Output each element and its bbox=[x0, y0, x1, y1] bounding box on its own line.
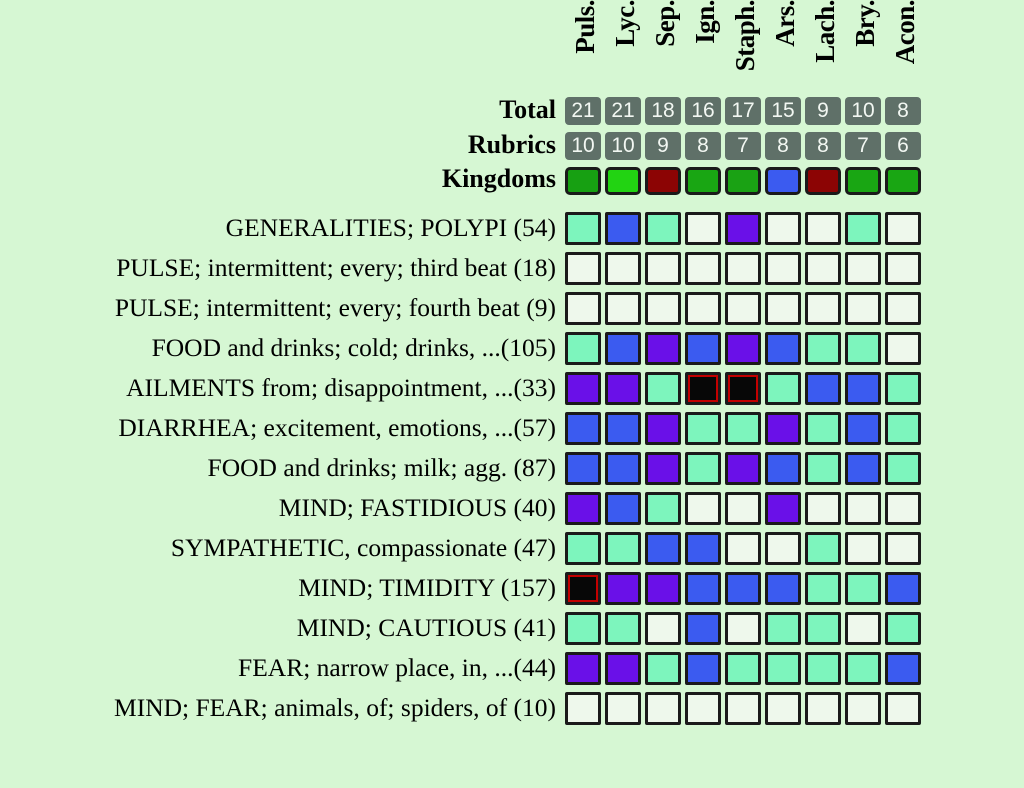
grade-cell[interactable] bbox=[725, 452, 761, 485]
remedy-column-header[interactable]: Lyc. bbox=[605, 0, 645, 96]
grade-cell[interactable] bbox=[845, 572, 881, 605]
kingdom-swatch bbox=[885, 167, 921, 195]
grade-cell[interactable] bbox=[805, 652, 841, 685]
total-score-cell: 15 bbox=[765, 97, 801, 125]
remedy-abbr-label: Lach. bbox=[805, 0, 845, 96]
grade-cell[interactable] bbox=[885, 452, 921, 485]
grade-cell[interactable] bbox=[845, 692, 881, 725]
grade-cell[interactable] bbox=[845, 252, 881, 285]
grade-cell[interactable] bbox=[565, 372, 601, 405]
grade-cell[interactable] bbox=[845, 652, 881, 685]
grade-cell[interactable] bbox=[605, 452, 641, 485]
grade-cell[interactable] bbox=[885, 332, 921, 365]
grade-cell[interactable] bbox=[645, 292, 681, 325]
remedy-column-header[interactable]: Ars. bbox=[765, 0, 805, 96]
grade-cell[interactable] bbox=[805, 572, 841, 605]
grade-cell[interactable] bbox=[645, 612, 681, 645]
grade-cell[interactable] bbox=[725, 292, 761, 325]
grade-cell[interactable] bbox=[805, 452, 841, 485]
grade-cell[interactable] bbox=[765, 612, 801, 645]
grade-cell[interactable] bbox=[725, 572, 761, 605]
grade-cell[interactable] bbox=[645, 212, 681, 245]
grade-cell[interactable] bbox=[765, 572, 801, 605]
grade-cell[interactable] bbox=[565, 532, 601, 565]
remedy-abbr-label: Puls. bbox=[565, 0, 605, 96]
grade-cell[interactable] bbox=[725, 412, 761, 445]
remedy-abbr-label: Sep. bbox=[645, 0, 685, 96]
grade-cell[interactable] bbox=[845, 492, 881, 525]
grade-cell[interactable] bbox=[765, 412, 801, 445]
grade-cell[interactable] bbox=[605, 612, 641, 645]
rubric-label[interactable]: GENERALITIES; POLYPI (54) bbox=[2, 213, 562, 243]
grade-cell[interactable] bbox=[725, 652, 761, 685]
grade-cell[interactable] bbox=[565, 572, 601, 605]
rubric-label[interactable]: FOOD and drinks; cold; drinks, ...(105) bbox=[2, 333, 562, 363]
grade-cell[interactable] bbox=[685, 692, 721, 725]
grade-cell[interactable] bbox=[645, 452, 681, 485]
grade-cell[interactable] bbox=[885, 412, 921, 445]
remedy-column-header[interactable]: Bry. bbox=[845, 0, 885, 96]
grade-cell[interactable] bbox=[845, 612, 881, 645]
remedy-abbr-label: Ars. bbox=[765, 0, 805, 96]
rubric-count-cell: 8 bbox=[765, 132, 801, 160]
rubric-label[interactable]: PULSE; intermittent; every; third beat (… bbox=[2, 253, 562, 283]
grade-cell[interactable] bbox=[725, 532, 761, 565]
grade-cell[interactable] bbox=[885, 652, 921, 685]
grade-cell[interactable] bbox=[685, 652, 721, 685]
grade-cell[interactable] bbox=[765, 492, 801, 525]
grade-cell[interactable] bbox=[725, 212, 761, 245]
grade-cell[interactable] bbox=[725, 372, 761, 405]
kingdom-swatch bbox=[565, 167, 601, 195]
grade-cell[interactable] bbox=[885, 692, 921, 725]
grade-cell[interactable] bbox=[725, 692, 761, 725]
remedy-abbr-label: Staph. bbox=[725, 0, 765, 96]
rubric-label[interactable]: DIARRHEA; excitement, emotions, ...(57) bbox=[2, 413, 562, 443]
rubric-count-cell: 8 bbox=[685, 132, 721, 160]
rubric-count-cell: 9 bbox=[645, 132, 681, 160]
grade-cell[interactable] bbox=[685, 372, 721, 405]
grade-cell[interactable] bbox=[565, 612, 601, 645]
rubric-count-cell: 8 bbox=[805, 132, 841, 160]
grade-cell[interactable] bbox=[765, 292, 801, 325]
grade-cell[interactable] bbox=[805, 692, 841, 725]
grade-cell[interactable] bbox=[645, 412, 681, 445]
rubric-label[interactable]: MIND; TIMIDITY (157) bbox=[2, 573, 562, 603]
grade-cell[interactable] bbox=[805, 212, 841, 245]
total-score-cell: 21 bbox=[565, 97, 601, 125]
grade-cell[interactable] bbox=[885, 572, 921, 605]
grade-cell[interactable] bbox=[565, 452, 601, 485]
grade-cell[interactable] bbox=[565, 292, 601, 325]
grade-cell[interactable] bbox=[685, 332, 721, 365]
kingdom-swatch bbox=[725, 167, 761, 195]
grade-cell[interactable] bbox=[725, 492, 761, 525]
grade-cell[interactable] bbox=[685, 412, 721, 445]
grade-cell[interactable] bbox=[885, 252, 921, 285]
grade-cell[interactable] bbox=[845, 532, 881, 565]
grade-cell[interactable] bbox=[565, 212, 601, 245]
grade-cell[interactable] bbox=[845, 412, 881, 445]
grade-cell[interactable] bbox=[605, 412, 641, 445]
grade-cell[interactable] bbox=[645, 572, 681, 605]
remedy-abbr-label: Ign. bbox=[685, 0, 725, 96]
kingdom-swatch bbox=[765, 167, 801, 195]
grade-cell[interactable] bbox=[885, 372, 921, 405]
grade-cell[interactable] bbox=[765, 252, 801, 285]
grade-cell[interactable] bbox=[685, 492, 721, 525]
remedy-column-header[interactable]: Ign. bbox=[685, 0, 725, 96]
rubric-label[interactable]: MIND; FASTIDIOUS (40) bbox=[2, 493, 562, 523]
grade-cell[interactable] bbox=[565, 332, 601, 365]
kingdom-swatch bbox=[605, 167, 641, 195]
total-score-cell: 17 bbox=[725, 97, 761, 125]
grade-cell[interactable] bbox=[805, 532, 841, 565]
grade-cell[interactable] bbox=[645, 692, 681, 725]
rubric-label-column: TotalRubricsKingdomsGENERALITIES; POLYPI… bbox=[0, 0, 562, 788]
kingdom-swatch bbox=[845, 167, 881, 195]
grade-cell[interactable] bbox=[765, 692, 801, 725]
grade-cell[interactable] bbox=[845, 292, 881, 325]
grade-cell[interactable] bbox=[645, 252, 681, 285]
grade-cell[interactable] bbox=[765, 332, 801, 365]
grade-cell[interactable] bbox=[805, 412, 841, 445]
grade-cell[interactable] bbox=[605, 292, 641, 325]
grade-cell[interactable] bbox=[645, 532, 681, 565]
grade-cell[interactable] bbox=[805, 292, 841, 325]
grade-cell[interactable] bbox=[885, 292, 921, 325]
remedy-header-row: Puls.Lyc.Sep.Ign.Staph.Ars.Lach.Bry.Acon… bbox=[565, 0, 925, 96]
rubric-label[interactable]: MIND; FEAR; animals, of; spiders, of (10… bbox=[2, 693, 562, 723]
remedy-abbr-label: Acon. bbox=[885, 0, 925, 96]
grade-cell[interactable] bbox=[565, 252, 601, 285]
remedy-column-header[interactable]: Sep. bbox=[645, 0, 685, 96]
rubric-label[interactable]: MIND; CAUTIOUS (41) bbox=[2, 613, 562, 643]
grade-cell[interactable] bbox=[565, 412, 601, 445]
kingdom-swatch bbox=[685, 167, 721, 195]
grade-cell[interactable] bbox=[565, 692, 601, 725]
grade-cell[interactable] bbox=[605, 492, 641, 525]
grade-cell[interactable] bbox=[805, 612, 841, 645]
grade-cell[interactable] bbox=[605, 652, 641, 685]
total-score-cell: 18 bbox=[645, 97, 681, 125]
remedy-column-header[interactable]: Lach. bbox=[805, 0, 845, 96]
grade-cell[interactable] bbox=[765, 532, 801, 565]
stat-row-label-rubrics: Rubrics bbox=[2, 130, 562, 160]
remedy-column-header[interactable]: Puls. bbox=[565, 0, 605, 96]
grade-cell[interactable] bbox=[605, 572, 641, 605]
grade-cell[interactable] bbox=[645, 332, 681, 365]
grade-cell[interactable] bbox=[885, 612, 921, 645]
grade-cell[interactable] bbox=[605, 252, 641, 285]
rubric-count-cell: 10 bbox=[605, 132, 641, 160]
grade-cell[interactable] bbox=[765, 652, 801, 685]
rubric-label[interactable]: SYMPATHETIC, compassionate (47) bbox=[2, 533, 562, 563]
stat-row-label-kingdoms: Kingdoms bbox=[2, 164, 562, 194]
rubric-label[interactable]: PULSE; intermittent; every; fourth beat … bbox=[2, 293, 562, 323]
grade-cell[interactable] bbox=[685, 212, 721, 245]
grade-cell[interactable] bbox=[645, 372, 681, 405]
grade-cell[interactable] bbox=[565, 492, 601, 525]
remedy-abbr-label: Lyc. bbox=[605, 0, 645, 96]
grade-cell[interactable] bbox=[805, 492, 841, 525]
kingdom-swatch bbox=[645, 167, 681, 195]
grade-cell[interactable] bbox=[565, 652, 601, 685]
grade-cell[interactable] bbox=[765, 372, 801, 405]
grade-cell[interactable] bbox=[605, 532, 641, 565]
grade-cell[interactable] bbox=[645, 492, 681, 525]
grade-cell[interactable] bbox=[645, 652, 681, 685]
grade-cell[interactable] bbox=[685, 612, 721, 645]
repertory-analysis-grid: Puls.Lyc.Sep.Ign.Staph.Ars.Lach.Bry.Acon… bbox=[0, 0, 1024, 788]
grade-cell[interactable] bbox=[885, 532, 921, 565]
grade-cell[interactable] bbox=[845, 332, 881, 365]
grade-cell[interactable] bbox=[805, 372, 841, 405]
rubric-count-cell: 7 bbox=[725, 132, 761, 160]
grade-cell[interactable] bbox=[685, 252, 721, 285]
grade-cell[interactable] bbox=[605, 332, 641, 365]
grade-cell[interactable] bbox=[685, 292, 721, 325]
grade-cell[interactable] bbox=[805, 252, 841, 285]
kingdom-swatch bbox=[805, 167, 841, 195]
grade-cell[interactable] bbox=[685, 572, 721, 605]
total-score-cell: 21 bbox=[605, 97, 641, 125]
grade-cell[interactable] bbox=[845, 452, 881, 485]
total-score-cell: 9 bbox=[805, 97, 841, 125]
rubric-count-cell: 10 bbox=[565, 132, 601, 160]
remedy-column-header[interactable]: Staph. bbox=[725, 0, 765, 96]
remedy-column-header[interactable]: Acon. bbox=[885, 0, 925, 96]
grade-cell[interactable] bbox=[685, 452, 721, 485]
grade-cell[interactable] bbox=[605, 692, 641, 725]
grade-cell[interactable] bbox=[885, 492, 921, 525]
grade-cell[interactable] bbox=[605, 212, 641, 245]
grade-cell[interactable] bbox=[725, 612, 761, 645]
rubric-label[interactable]: FOOD and drinks; milk; agg. (87) bbox=[2, 453, 562, 483]
total-score-cell: 16 bbox=[685, 97, 721, 125]
grade-cell[interactable] bbox=[885, 212, 921, 245]
grade-cell[interactable] bbox=[845, 212, 881, 245]
total-score-cell: 8 bbox=[885, 97, 921, 125]
grade-cell[interactable] bbox=[605, 372, 641, 405]
total-score-cell: 10 bbox=[845, 97, 881, 125]
rubric-label[interactable]: FEAR; narrow place, in, ...(44) bbox=[2, 653, 562, 683]
rubric-count-cell: 7 bbox=[845, 132, 881, 160]
remedy-abbr-label: Bry. bbox=[845, 0, 885, 96]
rubric-count-cell: 6 bbox=[885, 132, 921, 160]
grade-cell[interactable] bbox=[765, 452, 801, 485]
grade-cell[interactable] bbox=[845, 372, 881, 405]
stat-row-label-total: Total bbox=[2, 95, 562, 125]
grade-cell[interactable] bbox=[685, 532, 721, 565]
rubric-label[interactable]: AILMENTS from; disappointment, ...(33) bbox=[2, 373, 562, 403]
grade-cell[interactable] bbox=[765, 212, 801, 245]
grade-cell[interactable] bbox=[725, 332, 761, 365]
grade-cell[interactable] bbox=[805, 332, 841, 365]
grade-cell[interactable] bbox=[725, 252, 761, 285]
